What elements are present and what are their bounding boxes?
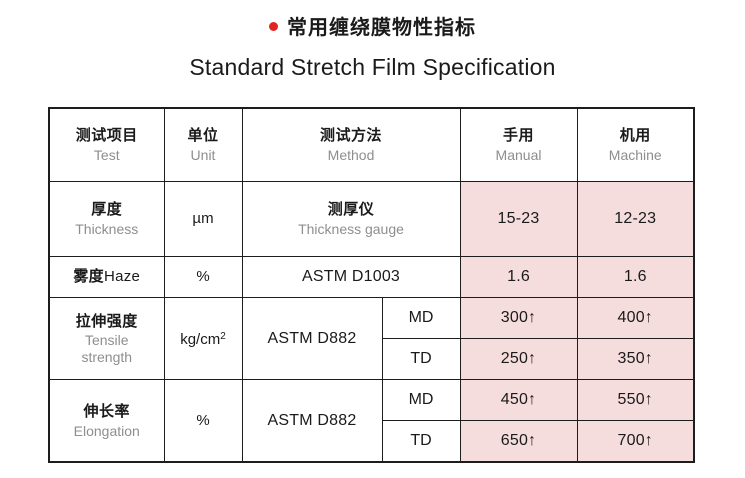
tensile-md-manual-value: 300↑ [501,309,537,326]
tensile-method: ASTM D882 [268,330,357,347]
cell-machine-haze: 1.6 [577,257,694,298]
table-row-elongation-md: 伸长率 Elongation % ASTM D882 MD 450↑ [49,380,694,421]
table-row-thickness: 厚度 Thickness µm 测厚仪 Thickness gauge 15-2… [49,182,694,257]
title-block: 常用缠绕膜物性指标 Standard Stretch Film Specific… [0,0,745,82]
thickness-en: Thickness [53,220,161,239]
header-machine-en: Machine [581,146,691,165]
cell-machine-elongation-md: 550↑ [577,380,694,421]
header-cell-method: 测试方法 Method [242,108,460,182]
spec-table-wrapper: 测试项目 Test 单位 Unit 测试方法 Method 手用 Manual [48,107,693,463]
tensile-unit: kg/cm2 [180,331,226,348]
header-manual-en: Manual [464,146,574,165]
cell-direction-elongation-md: MD [382,380,460,421]
thickness-cn: 厚度 [53,199,161,220]
cell-method-tensile: ASTM D882 [242,298,382,380]
header-cell-machine: 机用 Machine [577,108,694,182]
elongation-td-machine-value: 700↑ [618,432,654,449]
elongation-unit: % [196,412,209,429]
thickness-method-en: Thickness gauge [246,220,457,239]
title-chinese-text: 常用缠绕膜物性指标 [287,17,476,39]
cell-manual-tensile-md: 300↑ [460,298,577,339]
haze-machine-value: 1.6 [624,268,647,285]
cell-direction-tensile-td: TD [382,339,460,380]
elongation-td-manual-value: 650↑ [501,432,537,449]
haze-method: ASTM D1003 [302,268,400,285]
header-test-cn: 测试项目 [53,125,161,146]
cell-manual-haze: 1.6 [460,257,577,298]
cell-machine-elongation-td: 700↑ [577,421,694,463]
table-header-row: 测试项目 Test 单位 Unit 测试方法 Method 手用 Manual [49,108,694,182]
elongation-md-manual-value: 450↑ [501,391,537,408]
table-row-tensile-md: 拉伸强度 Tensile strength kg/cm2 ASTM D882 M… [49,298,694,339]
header-cell-test: 测试项目 Test [49,108,164,182]
haze-unit: % [196,268,209,285]
elongation-cn: 伸长率 [53,401,161,422]
cell-unit-elongation: % [164,380,242,463]
cell-test-thickness: 厚度 Thickness [49,182,164,257]
title-english: Standard Stretch Film Specification [0,52,745,82]
tensile-md-machine-value: 400↑ [618,309,654,326]
cell-manual-elongation-td: 650↑ [460,421,577,463]
specification-table: 测试项目 Test 单位 Unit 测试方法 Method 手用 Manual [48,107,695,463]
tensile-unit-base: kg/cm [180,331,220,348]
haze-en: Haze [104,268,140,285]
cell-test-haze: 雾度Haze [49,257,164,298]
elongation-md-label: MD [409,391,434,408]
cell-machine-tensile-md: 400↑ [577,298,694,339]
header-unit-cn: 单位 [168,125,239,146]
title-chinese: 常用缠绕膜物性指标 [0,14,745,42]
cell-unit-haze: % [164,257,242,298]
header-cell-manual: 手用 Manual [460,108,577,182]
thickness-machine-value: 12-23 [614,210,656,227]
tensile-td-label: TD [410,350,431,367]
cell-machine-thickness: 12-23 [577,182,694,257]
header-test-en: Test [53,146,161,165]
cell-unit-tensile: kg/cm2 [164,298,242,380]
elongation-en: Elongation [53,422,161,441]
header-cell-unit: 单位 Unit [164,108,242,182]
tensile-cn: 拉伸强度 [53,311,161,332]
elongation-td-label: TD [410,432,431,449]
cell-test-tensile: 拉伸强度 Tensile strength [49,298,164,380]
cell-direction-elongation-td: TD [382,421,460,463]
tensile-td-manual-value: 250↑ [501,350,537,367]
header-machine-cn: 机用 [581,125,691,146]
table-row-haze: 雾度Haze % ASTM D1003 1.6 1.6 [49,257,694,298]
tensile-td-machine-value: 350↑ [618,350,654,367]
elongation-method: ASTM D882 [268,412,357,429]
header-manual-cn: 手用 [464,125,574,146]
haze-manual-value: 1.6 [507,268,530,285]
cell-direction-tensile-md: MD [382,298,460,339]
thickness-unit: µm [192,210,213,227]
cell-test-elongation: 伸长率 Elongation [49,380,164,463]
cell-method-elongation: ASTM D882 [242,380,382,463]
haze-label: 雾度Haze [73,268,140,285]
red-dot-icon [269,22,278,31]
thickness-manual-value: 15-23 [498,210,540,227]
tensile-en-line2: strength [53,349,161,366]
haze-cn: 雾度 [73,268,104,285]
cell-method-haze: ASTM D1003 [242,257,460,298]
cell-unit-thickness: µm [164,182,242,257]
cell-manual-elongation-md: 450↑ [460,380,577,421]
cell-machine-tensile-td: 350↑ [577,339,694,380]
elongation-md-machine-value: 550↑ [618,391,654,408]
cell-manual-thickness: 15-23 [460,182,577,257]
header-unit-en: Unit [168,146,239,165]
specification-page: 常用缠绕膜物性指标 Standard Stretch Film Specific… [0,0,745,478]
thickness-method-cn: 测厚仪 [246,199,457,220]
tensile-en-line1: Tensile [53,332,161,349]
tensile-unit-superscript: 2 [220,331,226,342]
header-method-cn: 测试方法 [246,125,457,146]
cell-method-thickness: 测厚仪 Thickness gauge [242,182,460,257]
header-method-en: Method [246,146,457,165]
cell-manual-tensile-td: 250↑ [460,339,577,380]
tensile-md-label: MD [409,309,434,326]
